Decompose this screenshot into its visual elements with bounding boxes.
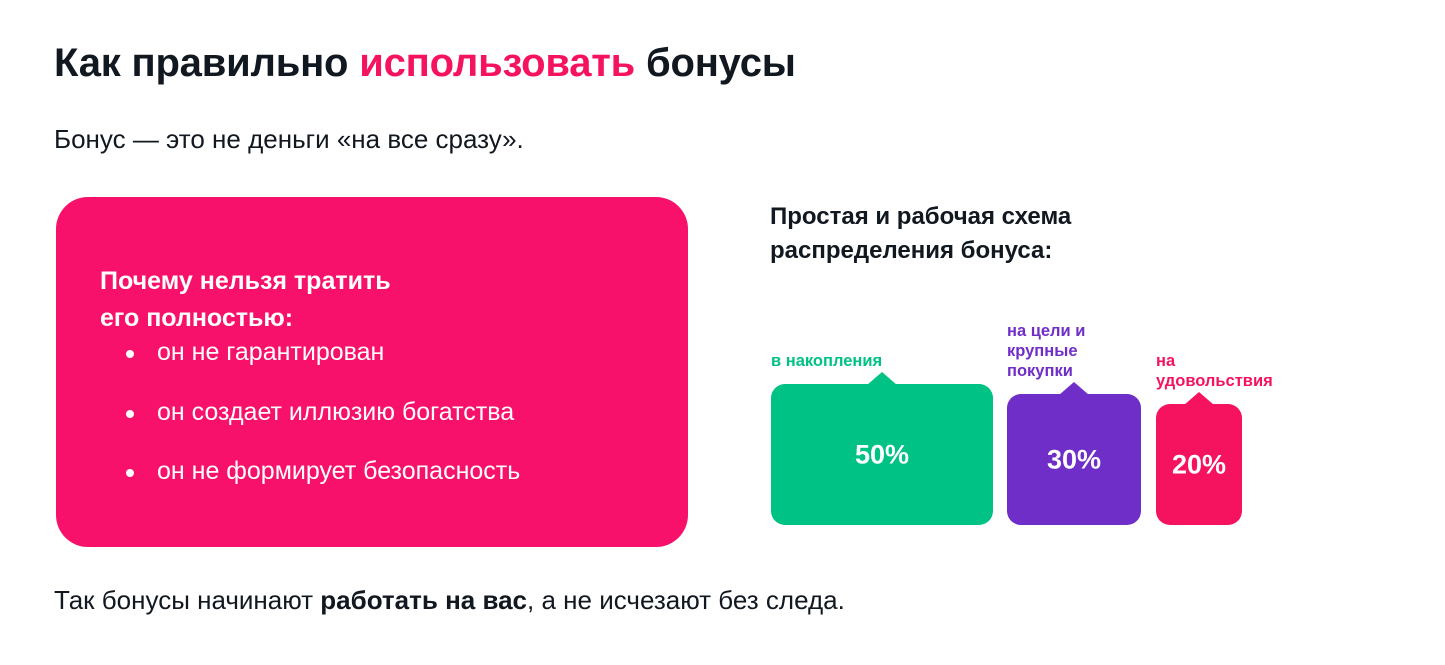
bar-goals: 30%	[1007, 394, 1141, 525]
warning-card-title: Почему нельзя тратить его полностью:	[100, 263, 391, 337]
list-item-label: он не формирует безопасность	[157, 457, 520, 485]
bar-group-pleasures: на удовольствия 20%	[1156, 404, 1242, 525]
bullet-dot-icon	[126, 350, 134, 358]
page-title-part2: бонусы	[635, 41, 796, 85]
warning-card-list: он не гарантирован он создает иллюзию бо…	[124, 339, 664, 486]
list-item-label: он не гарантирован	[157, 338, 384, 366]
bullet-dot-icon	[126, 469, 134, 477]
list-item-label: он создает иллюзию богатства	[157, 398, 514, 426]
bar-label-pleasures: на удовольствия	[1156, 351, 1273, 391]
bar-notch-icon	[1059, 382, 1089, 395]
bar-pleasures: 20%	[1156, 404, 1242, 525]
footer-caption: Так бонусы начинают работать на вас, а н…	[54, 585, 845, 616]
page-title-part1: Как правильно	[54, 41, 359, 85]
page-title-accent: использовать	[359, 41, 635, 85]
footer-part1: Так бонусы начинают	[54, 585, 320, 615]
bar-label-savings: в накопления	[771, 351, 882, 371]
bullet-dot-icon	[126, 410, 134, 418]
bar-savings: 50%	[771, 384, 993, 525]
page-subtitle: Бонус — это не деньги «на все сразу».	[54, 124, 524, 155]
warning-card: Почему нельзя тратить его полностью: он …	[56, 197, 688, 547]
list-item: он не гарантирован	[124, 339, 664, 367]
bar-group-goals: на цели и крупные покупки 30%	[1007, 394, 1141, 525]
slide-canvas: Как правильно использовать бонусы Бонус …	[0, 0, 1445, 665]
list-item: он не формирует безопасность	[124, 458, 664, 486]
bonus-distribution-chart: в накопления 50% на цели и крупные покуп…	[770, 300, 1370, 525]
footer-bold: работать на вас	[320, 585, 527, 615]
list-item: он создает иллюзию богатства	[124, 399, 664, 427]
page-title: Как правильно использовать бонусы	[54, 41, 796, 86]
bar-notch-icon	[1184, 392, 1214, 405]
bar-notch-icon	[867, 372, 897, 385]
bar-label-goals: на цели и крупные покупки	[1007, 321, 1085, 381]
bar-value-savings: 50%	[771, 439, 993, 470]
bar-value-pleasures: 20%	[1156, 449, 1242, 480]
bar-value-goals: 30%	[1007, 444, 1141, 475]
bar-group-savings: в накопления 50%	[771, 384, 993, 525]
chart-title: Простая и рабочая схема распределения бо…	[770, 200, 1071, 268]
footer-part2: , а не исчезают без следа.	[527, 585, 845, 615]
